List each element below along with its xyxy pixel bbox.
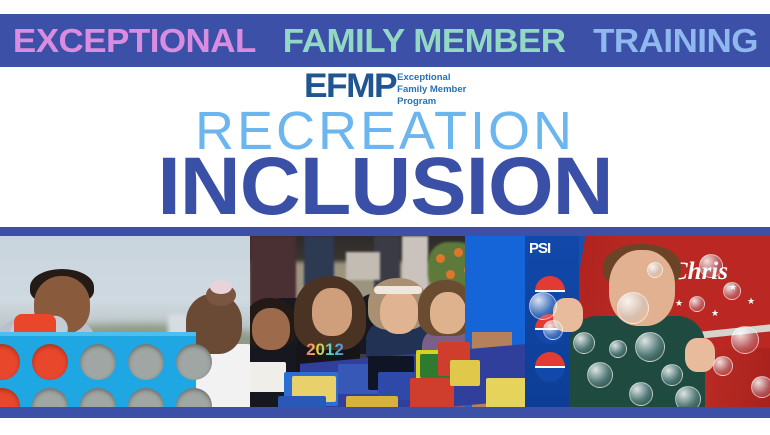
photo2-paper bbox=[346, 396, 398, 407]
photo1-hole bbox=[128, 344, 164, 380]
photo3-bubble bbox=[543, 320, 563, 340]
photo-connect-four bbox=[0, 236, 250, 407]
banner-space-2 bbox=[574, 22, 583, 59]
photo1-hole bbox=[176, 344, 212, 380]
poster-root: EXCEPTIONAL FAMILY MEMBER TRAINING EFMP … bbox=[0, 0, 770, 435]
banner-headline: EXCEPTIONAL FAMILY MEMBER TRAINING bbox=[12, 24, 757, 57]
photo3-cooler-logo bbox=[535, 352, 565, 382]
photo2-child-head bbox=[312, 288, 352, 336]
photo3-bubble bbox=[609, 340, 627, 358]
photo2-headband bbox=[374, 286, 422, 294]
banner-space-1 bbox=[264, 22, 273, 59]
photo2-child-head bbox=[430, 292, 466, 334]
photo3-bubble bbox=[617, 292, 649, 324]
photo1-hole bbox=[80, 344, 116, 380]
photo3-cooler-brand: PSI bbox=[529, 240, 550, 257]
photo2-paper bbox=[486, 378, 525, 407]
photo3-bubble bbox=[573, 332, 595, 354]
photo3-bubble bbox=[587, 362, 613, 388]
photo2-flower bbox=[436, 254, 445, 263]
banner-word-family-member: FAMILY MEMBER bbox=[282, 22, 565, 59]
divider-top bbox=[0, 227, 770, 236]
photo3-bubble bbox=[661, 364, 683, 386]
headline-inclusion: INCLUSION bbox=[0, 146, 770, 228]
photo2-paper bbox=[250, 362, 286, 392]
photo2-child-head bbox=[380, 290, 418, 334]
photo2-flower bbox=[454, 248, 463, 257]
photo2-paper bbox=[450, 360, 480, 386]
photo-craft-table: 2012 bbox=[250, 236, 525, 407]
photo1-disc bbox=[32, 344, 68, 380]
photo3-bubble bbox=[635, 332, 665, 362]
photo3-bubble bbox=[751, 376, 770, 398]
photo3-bubble bbox=[675, 386, 701, 407]
divider-bottom bbox=[0, 407, 770, 418]
photo3-bubble bbox=[629, 382, 653, 406]
photo2-paper bbox=[278, 396, 326, 407]
photo3-star-icon: ★ bbox=[747, 296, 755, 307]
photo2-table-bg bbox=[346, 252, 380, 280]
photo1-girl-hair-bow bbox=[210, 280, 232, 294]
photo3-bubble bbox=[647, 262, 663, 278]
photo3-bubble bbox=[713, 356, 733, 376]
photo2-child-head bbox=[252, 308, 290, 350]
photo3-bubble bbox=[723, 282, 741, 300]
photo3-star-icon: ★ bbox=[675, 298, 683, 309]
banner-word-exceptional: EXCEPTIONAL bbox=[12, 22, 254, 59]
photo3-bubble bbox=[689, 296, 705, 312]
efmp-logo-sub-line-1: Exceptional bbox=[397, 72, 466, 84]
efmp-logo-mark: EFMP bbox=[304, 70, 396, 102]
photo3-bubble bbox=[731, 326, 759, 354]
photo3-star-icon: ★ bbox=[711, 308, 719, 319]
photo3-bubble bbox=[699, 254, 723, 278]
photo2-shirt-graphic: 2012 bbox=[302, 340, 348, 362]
banner-word-training: TRAINING bbox=[593, 22, 758, 59]
photo2-paper bbox=[410, 378, 454, 407]
photo2-bystander bbox=[250, 236, 296, 306]
photo-bubbles: Chris ★ ★ ★ ★ PSI bbox=[525, 236, 770, 407]
top-banner: EXCEPTIONAL FAMILY MEMBER TRAINING bbox=[0, 14, 770, 67]
photo-strip: 2012 bbox=[0, 236, 770, 407]
efmp-logo-sub-line-2: Family Member bbox=[397, 84, 466, 96]
photo3-bubble bbox=[529, 292, 557, 320]
photo2-flower bbox=[446, 270, 455, 279]
photo3-boy-right-hand bbox=[685, 338, 715, 372]
